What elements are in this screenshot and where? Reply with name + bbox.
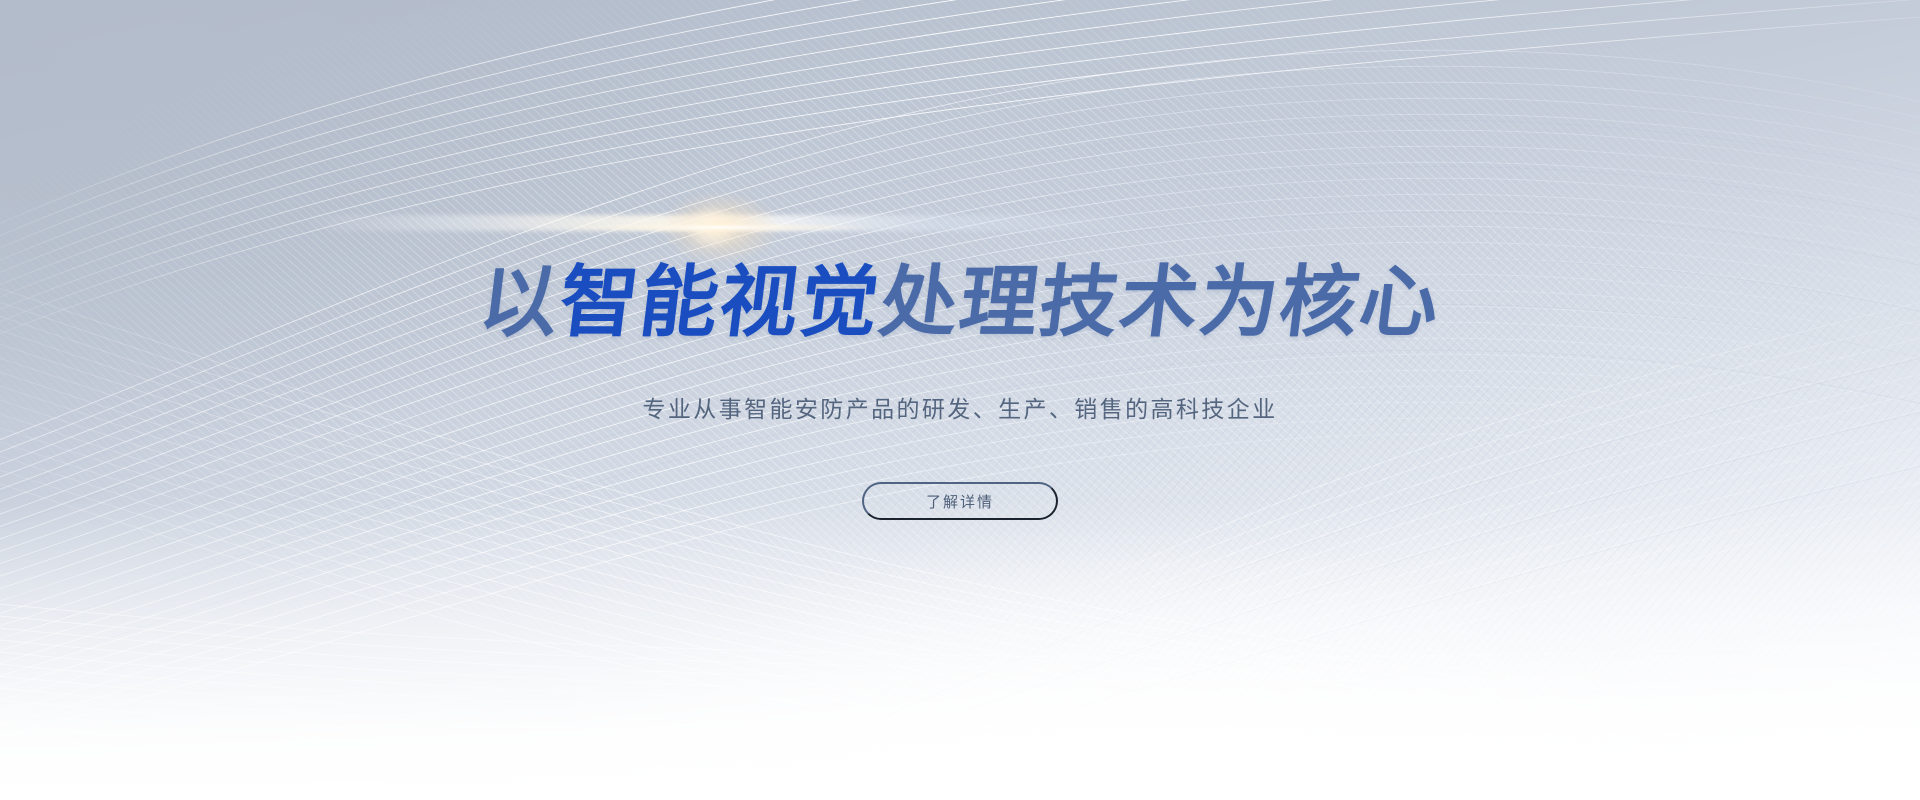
hero-content: 以智能视觉处理技术为核心 专业从事智能安防产品的研发、生产、销售的高科技企业 了… bbox=[0, 0, 1920, 800]
page-subtitle: 专业从事智能安防产品的研发、生产、销售的高科技企业 bbox=[643, 390, 1278, 424]
headline-segment-1: 以 bbox=[475, 264, 565, 342]
learn-more-button[interactable]: 了解详情 bbox=[862, 482, 1058, 520]
headline-segment-2: 智能视觉 bbox=[555, 264, 885, 342]
page-title: 以智能视觉处理技术为核心 bbox=[475, 264, 1445, 342]
hero-banner: 以智能视觉处理技术为核心 专业从事智能安防产品的研发、生产、销售的高科技企业 了… bbox=[0, 0, 1920, 800]
headline-segment-3: 处理技术为核心 bbox=[875, 264, 1445, 342]
